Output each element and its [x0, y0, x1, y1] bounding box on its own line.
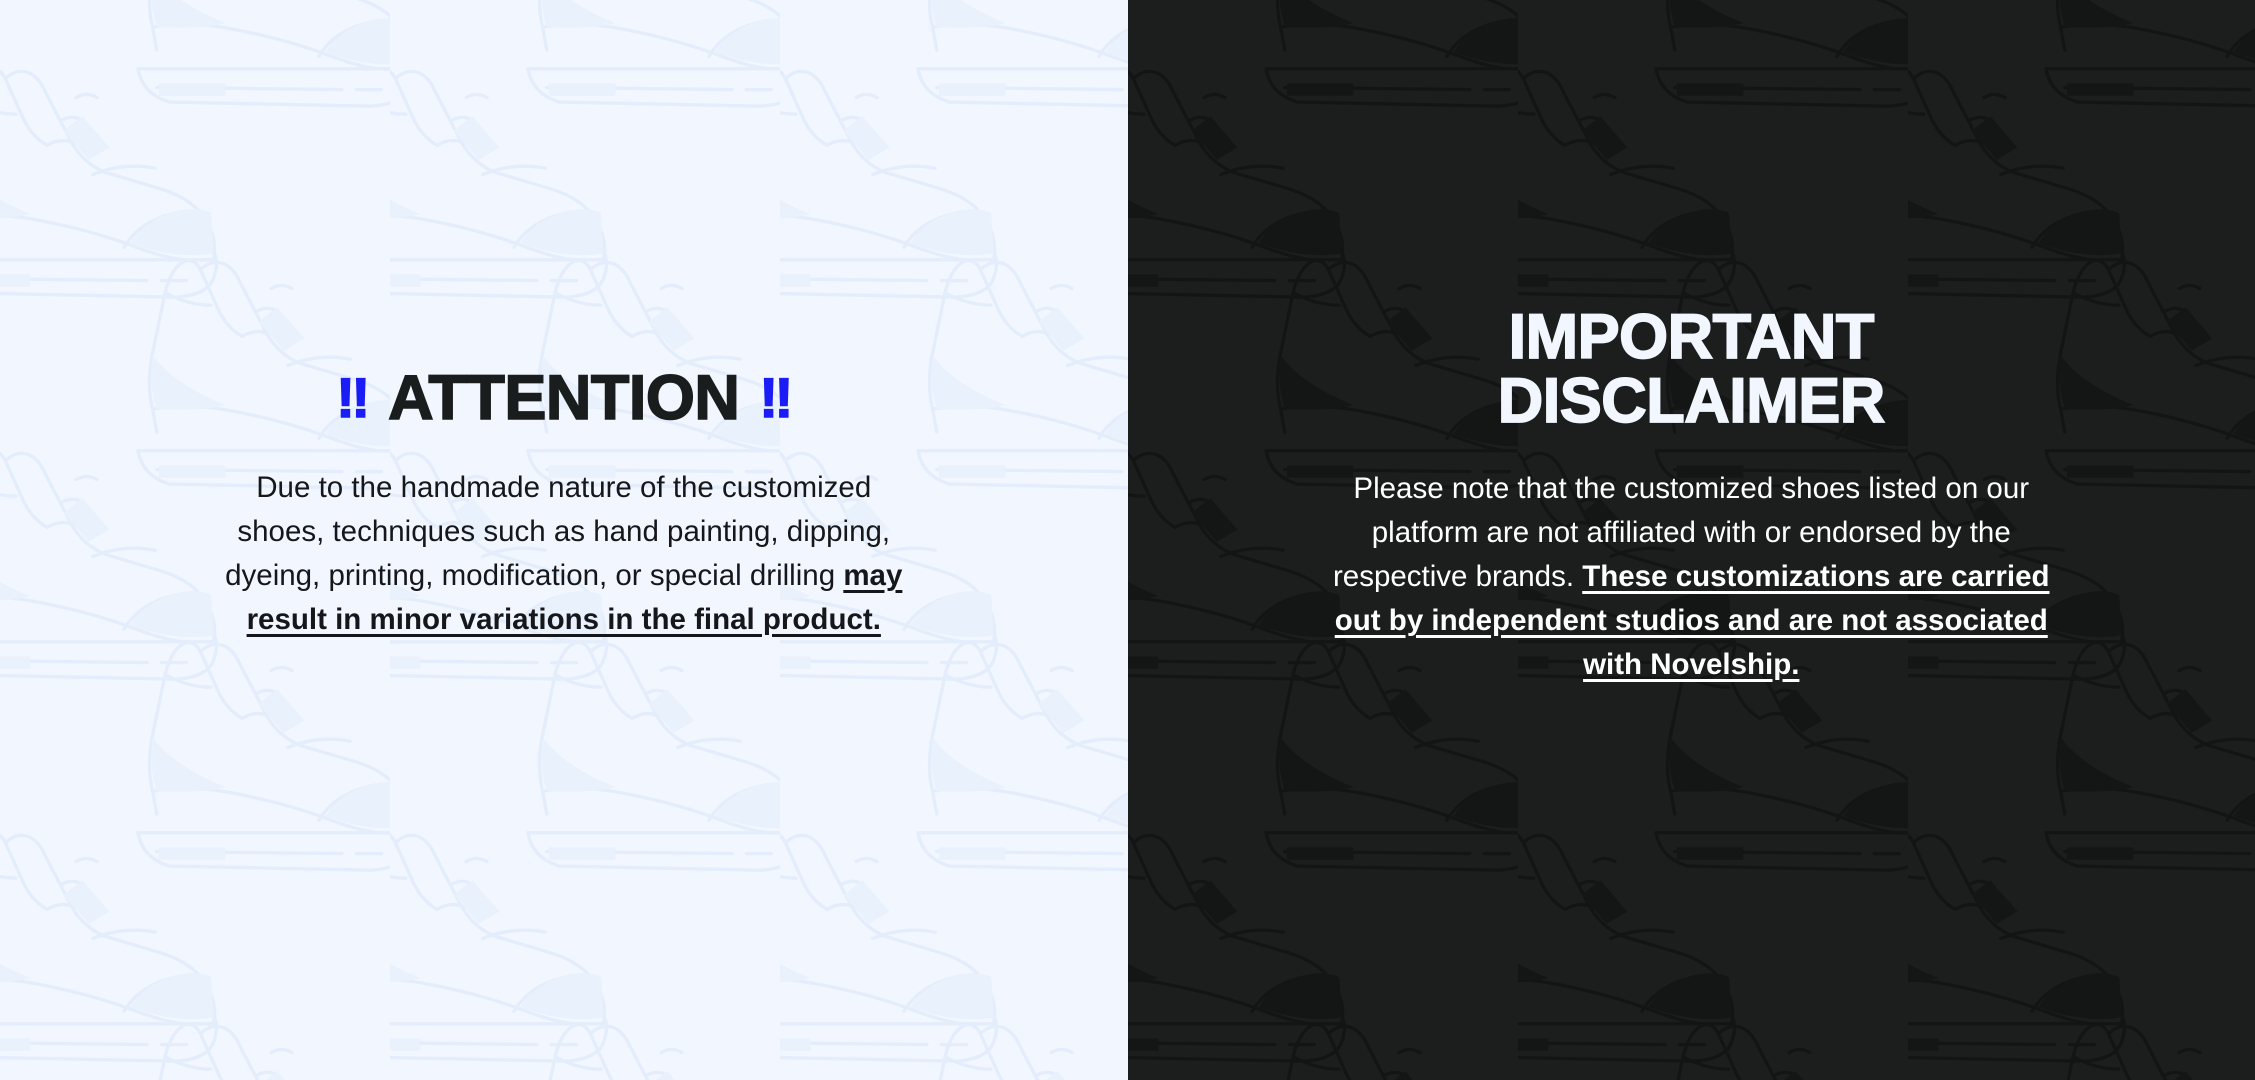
attention-body-normal: Due to the handmade nature of the custom… [225, 471, 890, 592]
disclaimer-heading: IMPORTANT DISCLAIMER [1371, 305, 2011, 434]
disclaimer-content: IMPORTANT DISCLAIMER Please note that th… [1128, 305, 2255, 688]
attention-panel: ‼ATTENTION‼ Due to the handmade nature o… [0, 0, 1128, 1080]
attention-heading-text: ATTENTION [388, 363, 739, 433]
double-exclamation-icon-right: ‼ [759, 369, 791, 426]
attention-body: Due to the handmade nature of the custom… [214, 466, 914, 642]
disclaimer-banner: ‼ATTENTION‼ Due to the handmade nature o… [0, 0, 2255, 1080]
disclaimer-panel: IMPORTANT DISCLAIMER Please note that th… [1128, 0, 2255, 1080]
attention-content: ‼ATTENTION‼ Due to the handmade nature o… [0, 366, 1128, 642]
double-exclamation-icon-left: ‼ [336, 369, 368, 426]
disclaimer-body: Please note that the customized shoes li… [1326, 467, 2056, 687]
attention-heading: ‼ATTENTION‼ [40, 366, 1088, 430]
